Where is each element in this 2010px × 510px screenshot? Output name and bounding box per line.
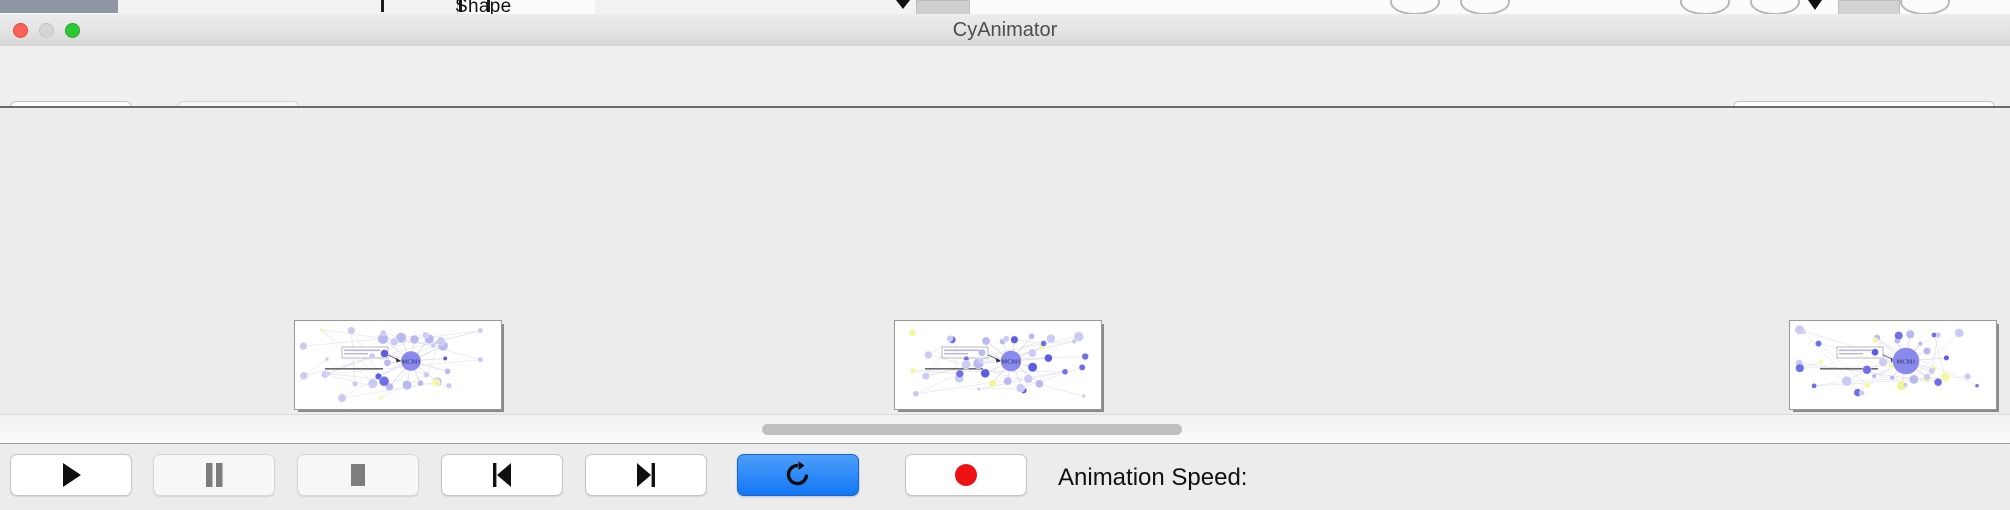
loop-button[interactable] [737, 454, 859, 496]
timeline-scrollbar[interactable] [0, 414, 2010, 444]
frame-toolbar: Clear All Frames [0, 46, 2010, 107]
record-icon [953, 462, 979, 488]
frame-network-preview: MCM1 [894, 320, 1102, 410]
skip-end-icon [634, 462, 658, 488]
background-caret-icon [896, 0, 910, 9]
animation-speed-label: Animation Speed: [1058, 464, 1247, 492]
background-control-fragment-2 [1838, 0, 1900, 14]
background-window-strip: Shape [0, 0, 2010, 14]
svg-text:MCM1: MCM1 [1001, 359, 1020, 366]
background-control-fragment [916, 0, 970, 14]
pause-icon [203, 462, 225, 488]
svg-text:MCM1: MCM1 [401, 359, 420, 366]
stop-icon [347, 462, 369, 488]
stop-button[interactable] [297, 454, 419, 496]
playback-bar: Animation Speed: [0, 443, 2010, 510]
background-caret-icon-2 [1808, 0, 1822, 10]
skip-end-button[interactable] [585, 454, 707, 496]
cyanimator-window: Shape CyAnimator [0, 0, 2010, 510]
skip-start-button[interactable] [441, 454, 563, 496]
frame-network-preview: MCM1 [1789, 320, 1997, 410]
timeline-panel[interactable]: MCM1MCM1MCM1 12131415161718 Seconds [0, 108, 2010, 414]
pause-button[interactable] [153, 454, 275, 496]
title-bar: CyAnimator [0, 14, 2010, 47]
svg-text:MCM1: MCM1 [1896, 359, 1915, 366]
record-button[interactable] [905, 454, 1027, 496]
skip-start-icon [490, 462, 514, 488]
play-icon [60, 462, 82, 488]
loop-icon [785, 461, 811, 489]
background-shape-label: Shape [455, 0, 511, 14]
play-button[interactable] [10, 454, 132, 496]
frame-network-preview: MCM1 [294, 320, 502, 410]
window-title: CyAnimator [0, 14, 2010, 46]
background-titlebar-fragment [0, 0, 118, 13]
scrollbar-thumb[interactable] [762, 424, 1182, 435]
